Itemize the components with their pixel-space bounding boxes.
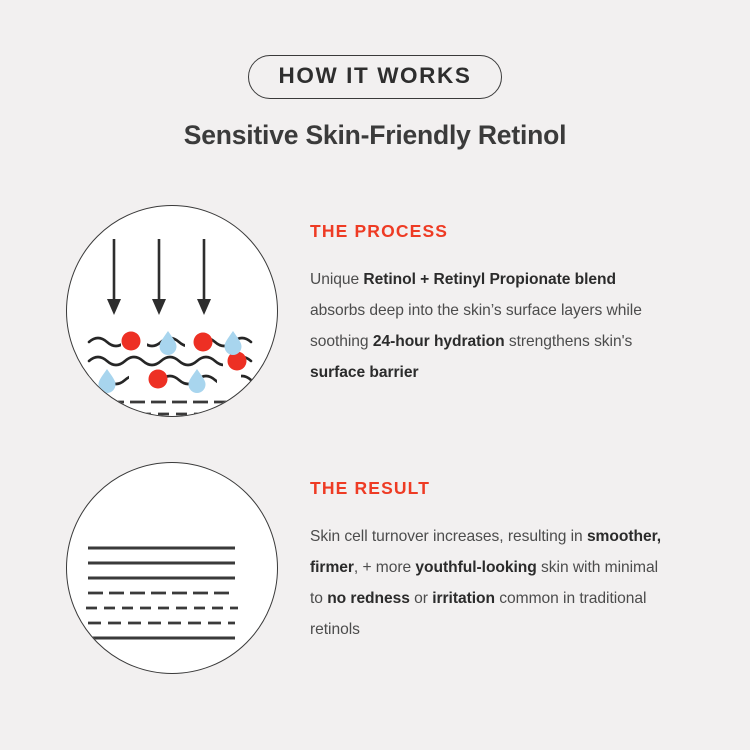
page-title: Sensitive Skin-Friendly Retinol <box>0 120 750 151</box>
process-body-text: Unique Retinol + Retinyl Propionate blen… <box>310 264 670 388</box>
down-arrow-icon <box>107 239 211 315</box>
solid-surface-lines <box>88 548 235 578</box>
eyebrow-the-result: THE RESULT <box>310 480 670 498</box>
result-body-text: Skin cell turnover increases, resulting … <box>310 521 670 645</box>
badge-container: HOW IT WORKS <box>0 55 750 99</box>
eyebrow-the-process: THE PROCESS <box>310 223 670 241</box>
infographic-page: HOW IT WORKS Sensitive Skin-Friendly Ret… <box>0 0 750 750</box>
skin-absorption-diagram <box>66 205 278 417</box>
process-text-column: THE PROCESS Unique Retinol + Retinyl Pro… <box>310 223 670 388</box>
how-it-works-badge: HOW IT WORKS <box>248 55 503 99</box>
dashed-deep-layers <box>86 593 238 623</box>
result-text-column: THE RESULT Skin cell turnover increases,… <box>310 480 670 645</box>
smooth-skin-layers-diagram <box>66 462 278 674</box>
dashed-deep-layers <box>86 402 238 416</box>
